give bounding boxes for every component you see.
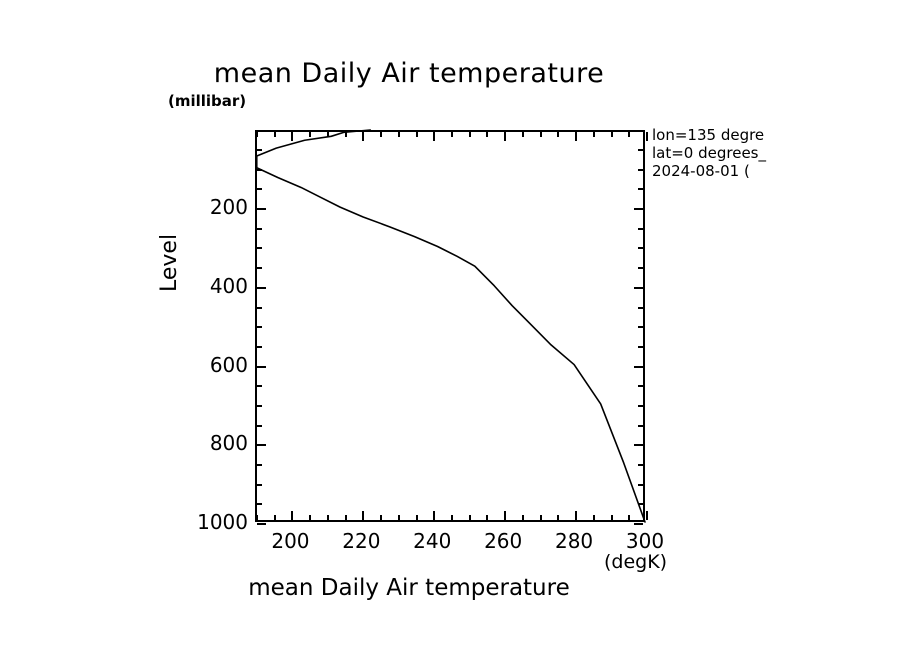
x-tick <box>433 132 435 141</box>
y-tick <box>638 228 643 230</box>
x-tick <box>416 132 418 137</box>
y-tick-label: 400 <box>210 274 248 298</box>
x-tick <box>274 515 276 520</box>
y-tick <box>257 366 266 368</box>
y-tick <box>257 228 262 230</box>
y-tick <box>638 188 643 190</box>
y-tick <box>257 326 262 328</box>
y-tick <box>257 405 262 407</box>
y-tick <box>638 346 643 348</box>
chart-canvas: mean Daily Air temperature (millibar) 20… <box>0 0 904 654</box>
x-tick <box>540 132 542 137</box>
x-tick <box>575 511 577 520</box>
x-tick <box>593 515 595 520</box>
y-axis-tick-labels: 2004006008001000 <box>130 0 248 654</box>
x-tick <box>575 132 577 141</box>
x-tick <box>557 515 559 520</box>
x-tick <box>486 515 488 520</box>
x-tick <box>451 132 453 137</box>
x-tick-label: 200 <box>271 529 309 553</box>
plot-frame <box>255 130 645 522</box>
x-tick <box>309 515 311 520</box>
x-tick <box>433 511 435 520</box>
y-tick <box>638 503 643 505</box>
y-tick-label: 600 <box>210 353 248 377</box>
x-tick <box>309 132 311 137</box>
x-tick <box>274 132 276 137</box>
x-tick <box>646 511 648 520</box>
y-tick <box>638 385 643 387</box>
x-tick-label: 300 <box>626 529 664 553</box>
y-tick <box>634 523 643 525</box>
x-tick <box>469 132 471 137</box>
y-tick <box>257 169 262 171</box>
x-tick <box>557 132 559 137</box>
x-tick <box>451 515 453 520</box>
y-tick <box>638 484 643 486</box>
y-tick <box>257 523 266 525</box>
x-axis-title: mean Daily Air temperature <box>0 575 861 601</box>
y-axis-title: Level <box>157 234 182 292</box>
x-tick <box>327 515 329 520</box>
y-tick <box>257 346 262 348</box>
x-tick-label: 260 <box>484 529 522 553</box>
y-tick <box>257 287 266 289</box>
y-tick <box>257 425 262 427</box>
y-tick <box>257 444 266 446</box>
x-tick <box>398 132 400 137</box>
y-tick <box>638 326 643 328</box>
x-tick <box>628 132 630 137</box>
x-tick-label: 240 <box>413 529 451 553</box>
x-tick <box>522 515 524 520</box>
annotation-line-lon: lon=135 degre <box>652 126 904 144</box>
x-tick <box>504 511 506 520</box>
x-tick <box>469 515 471 520</box>
y-tick <box>257 208 266 210</box>
y-tick <box>257 247 262 249</box>
x-tick <box>345 515 347 520</box>
x-tick <box>486 132 488 137</box>
x-tick <box>256 132 258 137</box>
x-tick <box>628 515 630 520</box>
x-tick <box>256 515 258 520</box>
x-tick <box>380 515 382 520</box>
y-tick <box>257 385 262 387</box>
y-tick <box>638 425 643 427</box>
y-tick <box>638 149 643 151</box>
x-tick <box>291 511 293 520</box>
x-tick <box>522 132 524 137</box>
y-tick <box>638 405 643 407</box>
x-tick-label: 280 <box>555 529 593 553</box>
annotation-block: lon=135 degre lat=0 degrees_ 2024-08-01 … <box>652 126 904 180</box>
y-tick <box>638 464 643 466</box>
x-tick <box>380 132 382 137</box>
y-tick <box>634 366 643 368</box>
y-tick <box>257 307 262 309</box>
x-tick <box>611 515 613 520</box>
y-tick <box>257 267 262 269</box>
annotation-line-lat: lat=0 degrees_ <box>652 144 904 162</box>
x-tick <box>611 132 613 137</box>
y-tick <box>634 444 643 446</box>
annotation-line-date: 2024-08-01 ( <box>652 162 904 180</box>
x-tick <box>593 132 595 137</box>
x-tick <box>327 132 329 137</box>
y-tick <box>634 208 643 210</box>
y-tick <box>634 287 643 289</box>
x-tick <box>416 515 418 520</box>
y-tick <box>257 484 262 486</box>
y-tick-label: 200 <box>210 195 248 219</box>
y-tick <box>257 503 262 505</box>
y-tick <box>638 307 643 309</box>
y-tick <box>257 149 262 151</box>
x-tick <box>646 132 648 141</box>
y-tick-label: 800 <box>210 431 248 455</box>
y-tick <box>638 247 643 249</box>
x-tick-label: 220 <box>342 529 380 553</box>
y-tick-label: 1000 <box>197 510 248 534</box>
y-tick <box>638 169 643 171</box>
y-tick <box>257 188 262 190</box>
x-tick <box>362 511 364 520</box>
x-tick <box>504 132 506 141</box>
x-tick <box>398 515 400 520</box>
x-tick <box>345 132 347 137</box>
x-tick <box>540 515 542 520</box>
y-tick <box>257 464 262 466</box>
x-axis-unit-label: (degK) <box>604 551 667 573</box>
y-tick <box>638 267 643 269</box>
x-tick <box>362 132 364 141</box>
x-tick <box>291 132 293 141</box>
